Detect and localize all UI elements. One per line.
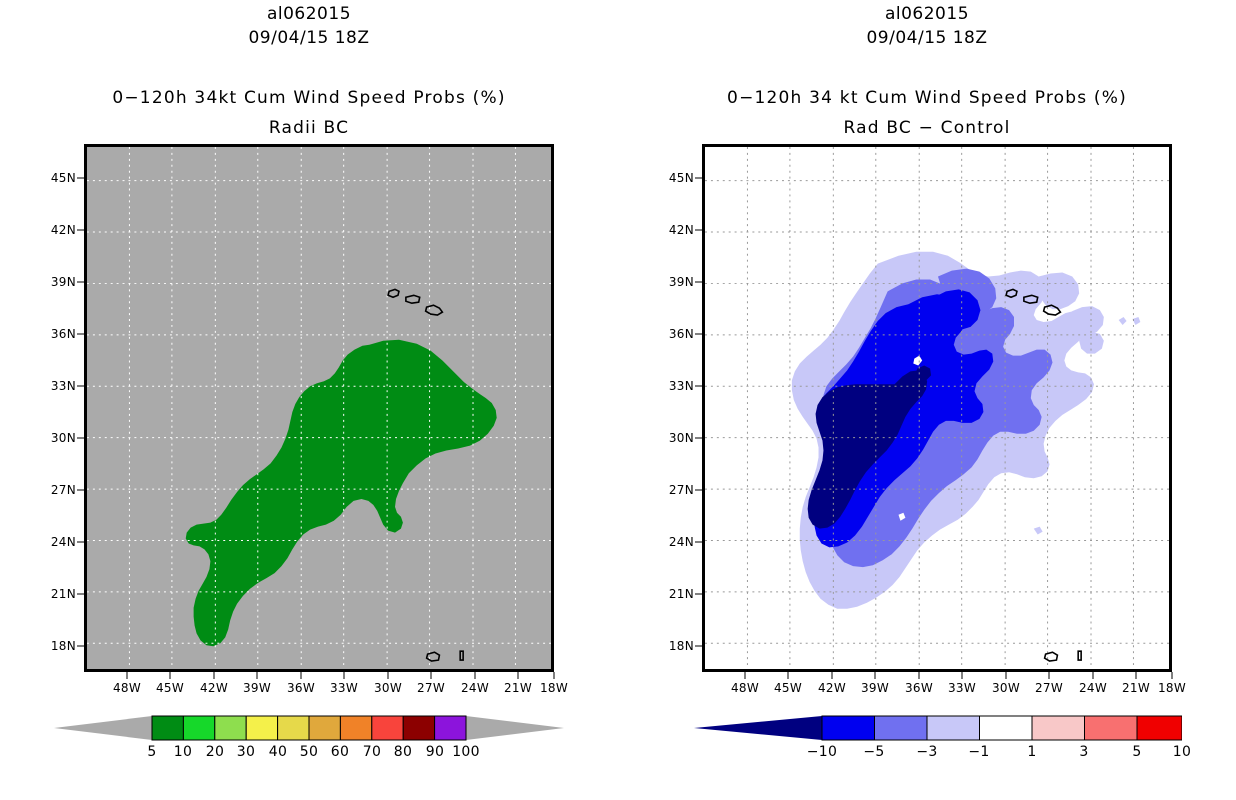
lat-tick-mark-right-39N [695, 282, 702, 283]
colorbar-diff-tick-5: 5 [1132, 744, 1141, 760]
colorbar-under-arrow [54, 716, 152, 740]
lon-tick-42W: 42W [200, 681, 228, 695]
panel-radii-bc: al062015 09/04/15 18Z 0−120h 34kt Cum Wi… [0, 0, 618, 800]
lat-tick-right-21N: 21N [669, 587, 694, 601]
lat-tick-mark-right-45N [695, 178, 702, 179]
colorbar-tick-20: 20 [206, 744, 224, 760]
lat-tick-mark-42N [77, 230, 84, 231]
lon-tick-mark-right-45W [788, 672, 789, 679]
lat-tick-mark-right-24N [695, 542, 702, 543]
colorbar-right-svg [672, 714, 1182, 742]
colorbar-diff-tick-neg3: −3 [916, 744, 937, 760]
map-radii-bc[interactable]: 45N 42N 39N 36N 33N 30N 27N 24N 21N 18N … [84, 144, 554, 672]
colorbar-tick-80: 80 [394, 744, 412, 760]
lon-tick-48W: 48W [113, 681, 141, 695]
lon-tick-mark-right-33W [962, 672, 963, 679]
panel-left-storm-date: 09/04/15 18Z [0, 28, 618, 48]
lat-tick-mark-18N [77, 646, 84, 647]
lat-tick-36N: 36N [51, 327, 76, 341]
map-frame-right [702, 144, 1172, 672]
colorbar-under-arrow-blue [694, 716, 822, 740]
lon-tick-right-30W: 30W [992, 681, 1020, 695]
lon-tick-36W: 36W [287, 681, 315, 695]
lat-tick-24N: 24N [51, 535, 76, 549]
lon-tick-right-27W: 27W [1035, 681, 1063, 695]
lon-tick-21W: 21W [504, 681, 532, 695]
colorbar-tick-50: 50 [300, 744, 318, 760]
lon-tick-right-45W: 45W [774, 681, 802, 695]
colorbar-left-svg [54, 714, 564, 742]
lat-tick-right-36N: 36N [669, 327, 694, 341]
colorbar-tick-30: 30 [237, 744, 255, 760]
lon-tick-mark-24W [475, 672, 476, 679]
lon-tick-27W: 27W [417, 681, 445, 695]
lat-tick-right-18N: 18N [669, 639, 694, 653]
colorbar-diff-tick-neg5: −5 [863, 744, 884, 760]
lon-tick-mark-right-30W [1006, 672, 1007, 679]
lat-tick-right-42N: 42N [669, 223, 694, 237]
panel-left-subtitle: Radii BC [0, 118, 618, 138]
colorbar-probability[interactable]: 5 10 20 30 40 50 60 70 80 90 100 [54, 714, 564, 774]
map-right-svg [705, 147, 1169, 669]
lat-tick-mark-33N [77, 386, 84, 387]
lat-tick-right-33N: 33N [669, 379, 694, 393]
colorbar-diff-tick-neg1: −1 [968, 744, 989, 760]
lat-tick-mark-right-33N [695, 386, 702, 387]
lon-tick-mark-33W [344, 672, 345, 679]
lon-tick-mark-45W [170, 672, 171, 679]
colorbar-over-arrow [466, 716, 564, 740]
colorbar-tick-70: 70 [363, 744, 381, 760]
lat-tick-mark-right-21N [695, 594, 702, 595]
lon-tick-mark-right-39W [875, 672, 876, 679]
panel-left-storm-id: al062015 [0, 4, 618, 24]
lon-tick-right-18W: 18W [1158, 681, 1186, 695]
lat-tick-right-45N: 45N [669, 171, 694, 185]
lon-tick-right-39W: 39W [861, 681, 889, 695]
lat-tick-27N: 27N [51, 483, 76, 497]
lon-tick-right-42W: 42W [818, 681, 846, 695]
colorbar-right-swatches [672, 714, 1182, 742]
lon-tick-39W: 39W [243, 681, 271, 695]
lat-tick-mark-21N [77, 594, 84, 595]
lon-tick-33W: 33W [330, 681, 358, 695]
lat-tick-mark-36N [77, 334, 84, 335]
lat-tick-21N: 21N [51, 587, 76, 601]
colorbar-diff-tick-1: 1 [1027, 744, 1036, 760]
panel-right-subtitle: Rad BC − Control [618, 118, 1236, 138]
lat-tick-42N: 42N [51, 223, 76, 237]
lat-tick-39N: 39N [51, 275, 76, 289]
lon-tick-mark-48W [127, 672, 128, 679]
lon-tick-mark-18W [554, 672, 555, 679]
colorbar-diff-tick-3: 3 [1079, 744, 1088, 760]
lat-tick-45N: 45N [51, 171, 76, 185]
colorbar-tick-40: 40 [269, 744, 287, 760]
lat-tick-mark-right-18N [695, 646, 702, 647]
colorbar-tick-90: 90 [426, 744, 444, 760]
lat-tick-mark-right-27N [695, 490, 702, 491]
lon-tick-mark-right-24W [1093, 672, 1094, 679]
panel-right-title: 0−120h 34 kt Cum Wind Speed Probs (%) [618, 88, 1236, 108]
lat-tick-mark-right-30N [695, 438, 702, 439]
panel-right-storm-date: 09/04/15 18Z [618, 28, 1236, 48]
lon-tick-mark-36W [301, 672, 302, 679]
map-frame-left [84, 144, 554, 672]
colorbar-left-swatches [54, 714, 564, 742]
lat-tick-mark-24N [77, 542, 84, 543]
colorbar-tick-5: 5 [147, 744, 156, 760]
lon-tick-mark-39W [257, 672, 258, 679]
colorbar-diff-tick-10: 10 [1173, 744, 1191, 760]
lon-tick-right-33W: 33W [948, 681, 976, 695]
lat-tick-mark-right-36N [695, 334, 702, 335]
map-left-svg [87, 147, 551, 669]
lat-tick-18N: 18N [51, 639, 76, 653]
lon-tick-right-21W: 21W [1122, 681, 1150, 695]
lat-tick-mark-30N [77, 438, 84, 439]
panel-right-storm-id: al062015 [618, 4, 1236, 24]
lon-tick-mark-right-48W [745, 672, 746, 679]
lon-tick-mark-right-42W [832, 672, 833, 679]
lat-tick-mark-27N [77, 490, 84, 491]
lon-tick-mark-right-18W [1172, 672, 1173, 679]
lon-tick-right-36W: 36W [905, 681, 933, 695]
lat-tick-33N: 33N [51, 379, 76, 393]
lat-tick-mark-45N [77, 178, 84, 179]
lon-tick-mark-42W [214, 672, 215, 679]
lon-tick-30W: 30W [374, 681, 402, 695]
lat-tick-mark-right-42N [695, 230, 702, 231]
lat-tick-30N: 30N [51, 431, 76, 445]
panel-rad-bc-minus-control: al062015 09/04/15 18Z 0−120h 34 kt Cum W… [618, 0, 1236, 800]
lat-tick-right-27N: 27N [669, 483, 694, 497]
map-rad-bc-minus-control[interactable]: 45N 42N 39N 36N 33N 30N 27N 24N 21N 18N … [702, 144, 1172, 672]
colorbar-tick-10: 10 [174, 744, 192, 760]
colorbar-tick-100: 100 [452, 744, 480, 760]
lon-tick-mark-right-21W [1136, 672, 1137, 679]
lon-tick-mark-27W [431, 672, 432, 679]
panel-left-title: 0−120h 34kt Cum Wind Speed Probs (%) [0, 88, 618, 108]
colorbar-diff-tick-neg10: −10 [807, 744, 837, 760]
lon-tick-mark-right-27W [1049, 672, 1050, 679]
lon-tick-mark-right-36W [919, 672, 920, 679]
lat-tick-right-24N: 24N [669, 535, 694, 549]
lon-tick-45W: 45W [156, 681, 184, 695]
lat-tick-right-30N: 30N [669, 431, 694, 445]
lat-tick-right-39N: 39N [669, 275, 694, 289]
lon-tick-mark-21W [518, 672, 519, 679]
lon-tick-right-24W: 24W [1079, 681, 1107, 695]
lon-tick-mark-30W [388, 672, 389, 679]
lon-tick-18W: 18W [540, 681, 568, 695]
lon-tick-24W: 24W [461, 681, 489, 695]
colorbar-difference[interactable]: −10 −5 −3 −1 1 3 5 10 [672, 714, 1182, 774]
lat-tick-mark-39N [77, 282, 84, 283]
colorbar-tick-60: 60 [331, 744, 349, 760]
lon-tick-right-48W: 48W [731, 681, 759, 695]
